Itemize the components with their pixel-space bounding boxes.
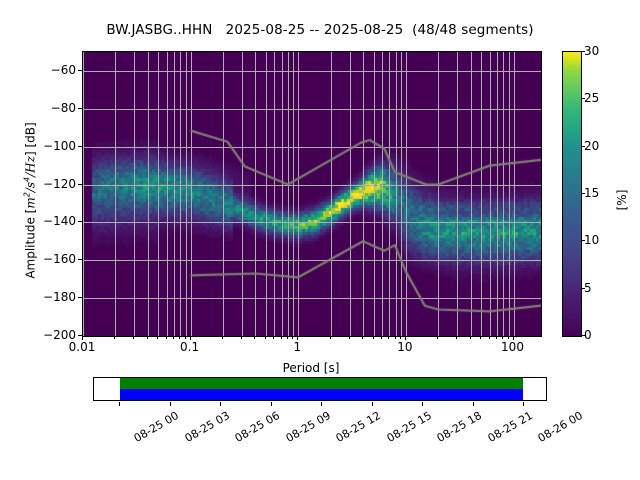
x-tick-mark <box>292 336 293 339</box>
y-axis-label-sup-1: 2 <box>23 192 32 197</box>
x-tick-mark <box>185 336 186 339</box>
x-tick-mark <box>173 336 174 339</box>
grid-line-horizontal <box>83 336 541 337</box>
x-tick-mark <box>388 336 389 339</box>
y-tick-mark <box>78 221 82 222</box>
x-tick-mark <box>480 336 481 339</box>
x-tick-mark <box>114 336 115 339</box>
colorbar-tick-mark <box>581 98 585 99</box>
ppsd-axes <box>82 51 542 337</box>
timeline-tick-mark <box>170 402 171 406</box>
y-axis-label-math-c: /Hz <box>24 156 38 177</box>
y-axis-label-math-b: /s <box>24 182 38 192</box>
y-tick-mark <box>78 108 82 109</box>
timeline-tick-mark <box>473 402 474 406</box>
coverage-bar-blue <box>120 389 523 400</box>
y-axis-label: Amplitude [m2/s4/Hz] [dB] <box>23 76 38 326</box>
x-tick-mark <box>273 336 274 339</box>
y-tick-label: −160 <box>0 252 76 266</box>
y-tick-label: −200 <box>0 328 76 342</box>
timeline-tick-label: 08-25 09 <box>283 409 332 445</box>
y-tick-mark <box>78 184 82 185</box>
x-tick-mark <box>330 336 331 339</box>
x-tick-mark <box>349 336 350 339</box>
colorbar-tick-mark <box>581 288 585 289</box>
timeline-tick-mark <box>523 402 524 406</box>
x-tick-mark <box>287 336 288 339</box>
timeline-tick-label: 08-26 00 <box>536 409 585 445</box>
x-axis-label: Period [s] <box>82 361 540 375</box>
colorbar-tick-label: 10 <box>584 233 599 247</box>
x-tick-mark <box>381 336 382 339</box>
x-tick-mark <box>157 336 158 339</box>
x-tick-mark <box>373 336 374 339</box>
coverage-bar-green <box>120 378 523 389</box>
timeline-tick-mark <box>271 402 272 406</box>
timeline-tick-mark <box>372 402 373 406</box>
y-tick-label: −60 <box>0 63 76 77</box>
y-tick-label: −140 <box>0 214 76 228</box>
colorbar-tick-mark <box>581 240 585 241</box>
colorbar-tick-label: 30 <box>584 44 599 58</box>
x-tick-label: 100 <box>501 340 524 354</box>
ppsd-figure: BW.JASBG..HHN 2025-08-25 -- 2025-08-25 (… <box>0 0 640 480</box>
x-tick-mark <box>502 336 503 339</box>
timeline-tick-mark <box>119 402 120 406</box>
x-tick-mark <box>489 336 490 339</box>
x-tick-mark <box>265 336 266 339</box>
colorbar-tick-label: 25 <box>584 91 599 105</box>
x-tick-label: 10 <box>397 340 412 354</box>
x-tick-mark <box>470 336 471 339</box>
x-tick-mark <box>179 336 180 339</box>
colorbar-tick-mark <box>581 51 585 52</box>
colorbar-tick-label: 20 <box>584 139 599 153</box>
y-tick-label: −100 <box>0 139 76 153</box>
timeline-tick-label: 08-25 06 <box>233 409 282 445</box>
y-axis-label-sup-2: 4 <box>23 177 32 182</box>
x-tick-mark <box>456 336 457 339</box>
x-tick-mark <box>147 336 148 339</box>
timeline-tick-mark <box>321 402 322 406</box>
y-axis-label-suffix: ] [dB] <box>24 122 38 156</box>
x-tick-mark <box>508 336 509 339</box>
x-tick-mark <box>222 336 223 339</box>
y-tick-label: −120 <box>0 177 76 191</box>
noise-model-curves <box>83 52 541 336</box>
x-tick-mark <box>254 336 255 339</box>
y-tick-mark <box>78 146 82 147</box>
x-tick-mark <box>241 336 242 339</box>
colorbar-tick-label: 5 <box>584 281 592 295</box>
timeline-tick-label: 08-25 12 <box>334 409 383 445</box>
y-tick-label: −180 <box>0 290 76 304</box>
x-tick-mark <box>395 336 396 339</box>
y-axis-label-prefix: Amplitude [ <box>24 209 38 279</box>
x-tick-mark <box>281 336 282 339</box>
y-axis-label-math-a: m <box>24 197 38 208</box>
timeline-tick-label: 08-25 00 <box>132 409 181 445</box>
x-tick-mark <box>166 336 167 339</box>
colorbar <box>562 51 582 337</box>
timeline-tick-label: 08-25 18 <box>435 409 484 445</box>
colorbar-tick-mark <box>581 146 585 147</box>
colorbar-tick-mark <box>581 335 585 336</box>
colorbar-tick-label: 0 <box>584 328 592 342</box>
y-tick-mark <box>78 70 82 71</box>
data-coverage-timeline[interactable] <box>93 377 547 401</box>
y-tick-mark <box>78 297 82 298</box>
x-tick-label: 1 <box>293 340 301 354</box>
figure-title: BW.JASBG..HHN 2025-08-25 -- 2025-08-25 (… <box>0 22 640 38</box>
colorbar-tick-label: 15 <box>584 186 599 200</box>
x-tick-mark <box>496 336 497 339</box>
timeline-tick-mark <box>220 402 221 406</box>
y-tick-label: −80 <box>0 101 76 115</box>
x-tick-mark <box>362 336 363 339</box>
timeline-tick-label: 08-25 03 <box>182 409 231 445</box>
colorbar-label: [%] <box>615 170 629 230</box>
timeline-tick-label: 08-25 15 <box>384 409 433 445</box>
colorbar-tick-mark <box>581 193 585 194</box>
x-tick-mark <box>400 336 401 339</box>
y-tick-mark <box>78 259 82 260</box>
timeline-tick-mark <box>422 402 423 406</box>
timeline-tick-label: 08-25 21 <box>485 409 534 445</box>
x-tick-label: 0.1 <box>180 340 199 354</box>
x-tick-mark <box>437 336 438 339</box>
x-tick-mark <box>133 336 134 339</box>
x-tick-label: 0.01 <box>69 340 96 354</box>
